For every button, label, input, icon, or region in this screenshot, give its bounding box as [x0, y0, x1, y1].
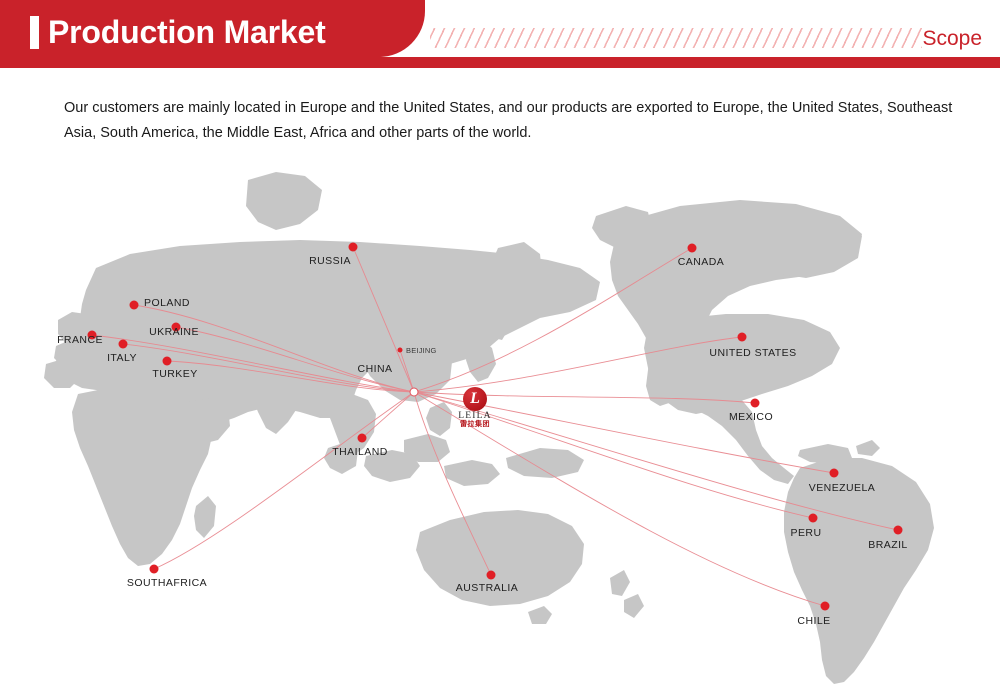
hatch-mask-bottom — [430, 48, 922, 57]
intro-paragraph: Our customers are mainly located in Euro… — [64, 96, 954, 146]
map-landmasses — [0, 172, 1000, 688]
map-hub-dot-china[interactable] — [410, 388, 419, 397]
map-dot-canada[interactable] — [688, 244, 697, 253]
map-dot-russia[interactable] — [349, 243, 358, 252]
map-dot-southafrica[interactable] — [150, 565, 159, 574]
map-label-ukraine: UKRAINE — [149, 326, 199, 338]
map-label-france: FRANCE — [57, 334, 103, 346]
map-dot-turkey[interactable] — [163, 357, 172, 366]
map-label-russia: RUSSIA — [309, 255, 351, 267]
company-logo: L LEILA 雷拉集团 — [451, 387, 499, 429]
map-dot-poland[interactable] — [130, 301, 139, 310]
map-dot-thailand[interactable] — [358, 434, 367, 443]
map-label-poland: POLAND — [144, 297, 190, 309]
hatch-mask-top — [430, 0, 922, 28]
map-dot-venezuela[interactable] — [830, 469, 839, 478]
map-label-united-states: UNITED STATES — [709, 347, 796, 359]
map-label-china: CHINA — [358, 363, 393, 375]
page-root: Production Market Scope Our customers ar… — [0, 0, 1000, 688]
map-dot-australia[interactable] — [487, 571, 496, 580]
map-label-venezuela: VENEZUELA — [809, 482, 876, 494]
world-map: L LEILA 雷拉集团 RUSSIAPOLANDUKRAINEFRANCEIT… — [0, 150, 1000, 688]
map-label-canada: CANADA — [678, 256, 724, 268]
map-label-beijing: BEIJING — [406, 346, 437, 355]
map-label-brazil: BRAZIL — [868, 539, 907, 551]
map-label-peru: PERU — [791, 527, 822, 539]
logo-chinese-name: 雷拉集团 — [451, 420, 499, 429]
map-label-turkey: TURKEY — [152, 368, 197, 380]
page-header: Production Market Scope — [0, 0, 1000, 68]
map-label-australia: AUSTRALIA — [456, 582, 518, 594]
scope-label: Scope — [922, 27, 982, 51]
map-dot-united-states[interactable] — [738, 333, 747, 342]
map-dot-peru[interactable] — [809, 514, 818, 523]
page-title: Production Market — [48, 11, 326, 53]
map-label-italy: ITALY — [107, 352, 137, 364]
header-accent-tick-icon — [30, 16, 39, 49]
map-dot-brazil[interactable] — [894, 526, 903, 535]
map-label-thailand: THAILAND — [332, 446, 388, 458]
map-label-mexico: MEXICO — [729, 411, 773, 423]
map-dot-chile[interactable] — [821, 602, 830, 611]
logo-letter: L — [463, 387, 487, 411]
map-dot-mexico[interactable] — [751, 399, 760, 408]
map-label-southafrica: SOUTHAFRICA — [127, 577, 207, 589]
map-label-chile: CHILE — [797, 615, 830, 627]
map-dot-beijing[interactable] — [398, 348, 403, 353]
map-dot-italy[interactable] — [119, 340, 128, 349]
header-bottom-bar — [0, 57, 1000, 68]
world-map-svg — [0, 150, 1000, 688]
